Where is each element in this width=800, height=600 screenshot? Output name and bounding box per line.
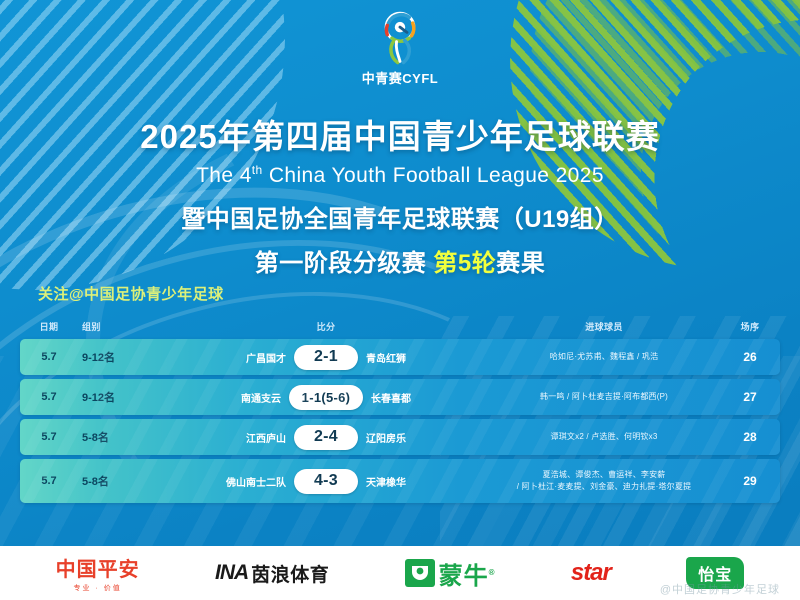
league-logo: 中青赛CYFL — [0, 8, 800, 87]
english-title-post: China Youth Football League 2025 — [263, 164, 604, 187]
english-title-ordinal: th — [252, 163, 263, 177]
sponsor-ina-mark: INA — [215, 561, 248, 585]
cyfl-emblem-icon — [371, 8, 429, 66]
row-date: 5.7 — [20, 351, 78, 363]
row-date: 5.7 — [20, 475, 78, 487]
score-pill: 2-1 — [294, 345, 358, 370]
sponsor-pingan: 中国平安 专业 · 价值 — [56, 553, 140, 593]
scorer-line: 夏浩城、谭俊杰、曹运祥、李安薪 — [488, 469, 720, 481]
follow-handle: 关注@中国足协青少年足球 — [38, 283, 224, 304]
table-row: 5.7 9-12名 广昌国才 2-1 青岛红狮 哈如尼·尤苏甫、魏程鑫 / 巩浩… — [20, 339, 780, 375]
row-order: 29 — [720, 474, 780, 488]
stage-suffix: 赛果 — [496, 250, 545, 277]
column-header-date: 日期 — [20, 320, 78, 333]
english-title: The 4th China Youth Football League 2025 — [0, 163, 800, 188]
sponsor-yibao-name: 怡宝 — [698, 561, 732, 585]
sponsor-yibao: 怡宝 — [686, 557, 744, 589]
row-match: 南通支云 1-1(5-6) 长春喜都 — [164, 385, 488, 410]
home-team: 江西庐山 — [220, 430, 286, 445]
column-header-order: 场序 — [720, 320, 780, 333]
scorer-line: 韩一鸣 / 阿卜杜麦吉提·阿布都西(P) — [488, 391, 720, 403]
home-team: 佛山南士二队 — [220, 474, 286, 489]
mengniu-glyph-icon — [409, 563, 431, 583]
yibao-badge-icon: 怡宝 — [686, 557, 744, 589]
table-header-row: 日期 组别 比分 进球球员 场序 — [20, 313, 780, 339]
row-match: 江西庐山 2-4 辽阳房乐 — [164, 425, 488, 450]
away-team: 天津橡华 — [366, 474, 432, 489]
sponsor-bar: 中国平安 专业 · 价值 INA 茵浪体育 蒙牛® star 怡宝 @中国足协青… — [0, 546, 800, 600]
score-pill: 4-3 — [294, 469, 358, 494]
row-order: 27 — [720, 390, 780, 404]
stage-prefix: 第一阶段分级赛 — [255, 250, 434, 277]
row-date: 5.7 — [20, 391, 78, 403]
row-date: 5.7 — [20, 431, 78, 443]
scorer-line: / 阿卜杜江·麦麦提、刘金豪、迪力扎提·塔尔夏提 — [488, 481, 720, 493]
row-order: 28 — [720, 430, 780, 444]
row-scorers: 夏浩城、谭俊杰、曹运祥、李安薪 / 阿卜杜江·麦麦提、刘金豪、迪力扎提·塔尔夏提 — [488, 469, 720, 492]
sponsor-ina: INA 茵浪体育 — [215, 560, 329, 587]
home-team: 南通支云 — [215, 390, 281, 405]
row-group: 5-8名 — [78, 429, 164, 445]
title-block: 2025年第四届中国青少年足球联赛 The 4th China Youth Fo… — [0, 110, 800, 278]
logo-text: 中青赛CYFL — [362, 68, 438, 87]
subtitle: 暨中国足协全国青年足球联赛（U19组） — [0, 199, 800, 234]
row-scorers: 哈如尼·尤苏甫、魏程鑫 / 巩浩 — [488, 351, 720, 363]
english-title-pre: The 4 — [196, 164, 252, 187]
row-group: 5-8名 — [78, 473, 164, 489]
table-row: 5.7 5-8名 佛山南士二队 4-3 天津橡华 夏浩城、谭俊杰、曹运祥、李安薪… — [20, 459, 780, 503]
row-order: 26 — [720, 350, 780, 364]
away-team: 青岛红狮 — [366, 350, 432, 365]
sponsor-star-name: star — [571, 559, 611, 587]
sponsor-mengniu-name: 蒙牛® — [439, 556, 496, 591]
row-match: 广昌国才 2-1 青岛红狮 — [164, 345, 488, 370]
mengniu-logo-icon — [405, 559, 435, 587]
sponsor-pingan-tagline: 专业 · 价值 — [74, 583, 122, 593]
table-row: 5.7 5-8名 江西庐山 2-4 辽阳房乐 谭琪文x2 / 卢选胜、何明钦x3… — [20, 419, 780, 455]
main-title: 2025年第四届中国青少年足球联赛 — [0, 110, 800, 158]
score-pill: 1-1(5-6) — [289, 385, 363, 410]
sponsor-mengniu: 蒙牛® — [405, 556, 496, 591]
sponsor-star: star — [571, 559, 611, 587]
column-header-group: 组别 — [78, 320, 164, 333]
row-group: 9-12名 — [78, 389, 164, 405]
round-highlight: 第5轮 — [433, 250, 496, 277]
stage-line: 第一阶段分级赛 第5轮赛果 — [0, 243, 800, 278]
sponsor-pingan-name: 中国平安 — [56, 553, 140, 582]
scorer-line: 谭琪文x2 / 卢选胜、何明钦x3 — [488, 431, 720, 443]
score-pill: 2-4 — [294, 425, 358, 450]
away-team: 辽阳房乐 — [366, 430, 432, 445]
row-match: 佛山南士二队 4-3 天津橡华 — [164, 469, 488, 494]
results-table: 日期 组别 比分 进球球员 场序 5.7 9-12名 广昌国才 2-1 青岛红狮… — [20, 313, 780, 507]
scorer-line: 哈如尼·尤苏甫、魏程鑫 / 巩浩 — [488, 351, 720, 363]
row-scorers: 韩一鸣 / 阿卜杜麦吉提·阿布都西(P) — [488, 391, 720, 403]
sponsor-ina-name: 茵浪体育 — [251, 560, 329, 587]
table-row: 5.7 9-12名 南通支云 1-1(5-6) 长春喜都 韩一鸣 / 阿卜杜麦吉… — [20, 379, 780, 415]
row-scorers: 谭琪文x2 / 卢选胜、何明钦x3 — [488, 431, 720, 443]
column-header-score: 比分 — [164, 320, 488, 333]
row-group: 9-12名 — [78, 349, 164, 365]
away-team: 长春喜都 — [371, 390, 437, 405]
home-team: 广昌国才 — [220, 350, 286, 365]
column-header-scorers: 进球球员 — [488, 320, 720, 333]
